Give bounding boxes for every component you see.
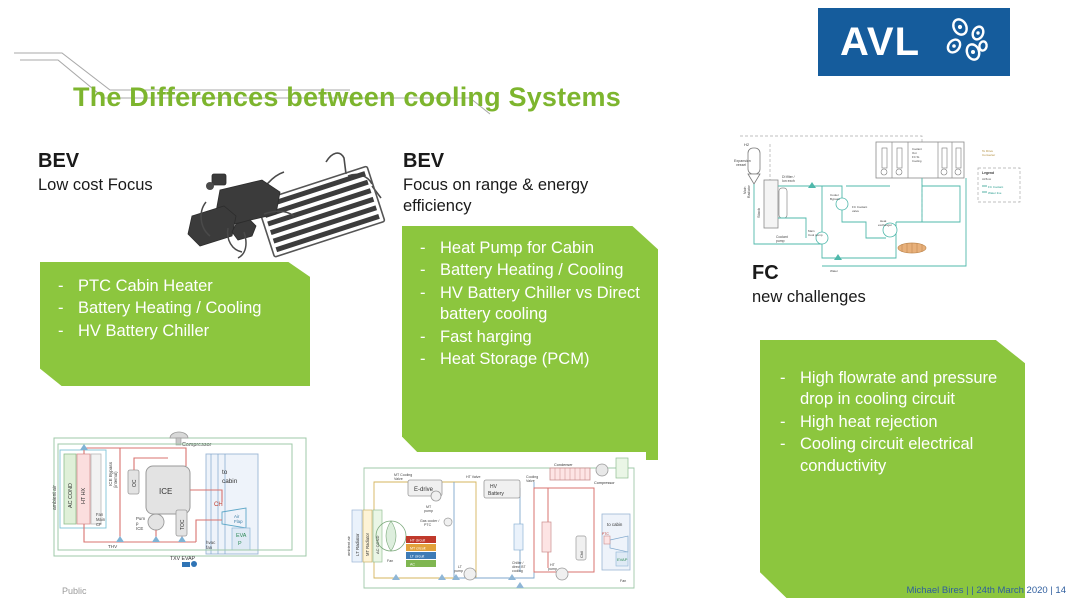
list-item: -Heat Pump for Cabin [410, 238, 650, 259]
bullet-marker: - [58, 298, 64, 319]
heading-text: FC [752, 262, 962, 285]
list-item-text: HV Battery Chiller vs Direct battery coo… [440, 284, 640, 323]
svg-text:ambient air: ambient air [52, 485, 58, 510]
bullet-marker: - [420, 238, 426, 259]
svg-text:Fan: Fan [387, 559, 393, 563]
svg-text:AC COND: AC COND [68, 483, 74, 508]
callout-box-bev-low-cost: -PTC Cabin Heater -Battery Heating / Coo… [40, 262, 310, 386]
svg-text:ambient air: ambient air [346, 536, 351, 556]
svg-text:Radiator: Radiator [747, 184, 751, 198]
svg-text:TXV EVAP: TXV EVAP [170, 556, 196, 562]
svg-text:AC COND: AC COND [375, 535, 380, 554]
svg-text:pump: pump [548, 567, 557, 571]
bev-thermal-circuit-schematic: ambient air LT Radiator MT Radiator AC C… [344, 452, 646, 598]
list-item-text: Fast harging [440, 328, 532, 346]
svg-text:fan: fan [206, 545, 213, 550]
svg-text:Fan: Fan [620, 579, 626, 583]
list-item: -PTC Cabin Heater [48, 276, 300, 297]
svg-text:pump: pump [776, 239, 785, 243]
list-item: -Battery Heating / Cooling [410, 260, 650, 281]
svg-text:Compressor: Compressor [182, 442, 212, 448]
list-item-text: HV Battery Chiller [78, 322, 209, 340]
svg-text:AC: AC [410, 563, 415, 567]
column-heading-bev-range: BEV Focus on range & energy efficiency [403, 150, 623, 216]
column-heading-fc: FC new challenges [752, 262, 962, 308]
bullet-list: -PTC Cabin Heater -Battery Heating / Coo… [48, 276, 300, 342]
avl-logo: AVL [818, 8, 1010, 76]
svg-text:Ion exch: Ion exch [782, 179, 795, 183]
svg-text:E-drive: E-drive [414, 487, 434, 493]
svg-text:H2: H2 [744, 142, 750, 147]
svg-text:Water line: Water line [988, 191, 1002, 195]
svg-text:ICE: ICE [136, 526, 143, 531]
svg-text:Flap: Flap [234, 519, 243, 524]
svg-text:Airflow: Airflow [982, 177, 992, 181]
svg-text:pump: pump [454, 569, 463, 573]
svg-text:vessel: vessel [736, 163, 746, 167]
callout-box-fc: -High flowrate and pressure drop in cool… [760, 340, 1025, 598]
svg-text:cooling: cooling [512, 569, 523, 573]
bullet-marker: - [420, 327, 426, 348]
svg-text:LT Radiator: LT Radiator [355, 533, 360, 556]
svg-text:Cooling: Cooling [912, 159, 922, 163]
svg-text:cabin: cabin [222, 478, 238, 485]
list-item: -Heat Storage (PCM) [410, 349, 650, 370]
classification-label: Public [62, 586, 87, 596]
svg-text:TOC: TOC [180, 519, 186, 530]
svg-text:P: P [238, 541, 242, 547]
bullet-marker: - [58, 276, 64, 297]
bullet-list: -Heat Pump for Cabin -Battery Heating / … [410, 238, 650, 371]
callout-box-bev-range: -Heat Pump for Cabin -Battery Heating / … [402, 226, 658, 460]
bullet-marker: - [58, 321, 64, 342]
svg-text:HV: HV [490, 484, 498, 490]
svg-text:EVA: EVA [236, 533, 247, 539]
list-item-text: Battery Heating / Cooling [440, 261, 623, 279]
svg-text:Battery: Battery [488, 491, 504, 497]
svg-text:Converter: Converter [982, 153, 995, 157]
list-item: -High heat rejection [770, 412, 1015, 433]
svg-text:HT HX: HT HX [81, 488, 87, 504]
svg-text:Valve: Valve [526, 479, 535, 483]
bullet-marker: - [780, 412, 786, 433]
svg-text:Cool pump: Cool pump [808, 233, 823, 237]
list-item-text: Heat Pump for Cabin [440, 239, 594, 257]
list-item: -High flowrate and pressure drop in cool… [770, 368, 1015, 411]
svg-text:Bypass: Bypass [830, 197, 840, 201]
bullet-marker: - [780, 368, 786, 389]
svg-text:pump: pump [424, 509, 433, 513]
svg-text:Stack: Stack [756, 208, 761, 218]
svg-text:CF: CF [96, 522, 102, 527]
svg-text:THV: THV [108, 544, 118, 549]
svg-text:valve: valve [852, 209, 859, 213]
svg-text:OC: OC [132, 479, 138, 487]
svg-text:CH: CH [214, 502, 223, 508]
list-item-text: High heat rejection [800, 413, 938, 431]
footer-meta: Michael Bires | | 24th March 2020 | 14 [907, 585, 1066, 596]
svg-text:Condenser: Condenser [554, 463, 573, 467]
list-item: -HV Battery Chiller vs Direct battery co… [410, 283, 650, 326]
list-item: -Fast harging [410, 327, 650, 348]
list-item: -Cooling circuit electrical conductivity [770, 434, 1015, 477]
svg-text:HT Valve: HT Valve [466, 475, 480, 479]
list-item: -Battery Heating / Cooling [48, 298, 300, 319]
svg-text:EVAP: EVAP [617, 557, 628, 562]
avl-wordmark: AVL [840, 22, 920, 62]
bullet-marker: - [780, 434, 786, 455]
svg-text:MT Radiator: MT Radiator [365, 532, 370, 556]
svg-text:(internal): (internal) [113, 471, 118, 488]
svg-text:HT circuit: HT circuit [410, 539, 425, 543]
svg-text:LT circuit: LT circuit [410, 555, 424, 559]
svg-text:FC Coolant: FC Coolant [988, 185, 1003, 189]
list-item-text: High flowrate and pressure drop in cooli… [800, 369, 997, 408]
avl-pinwheel-icon [940, 16, 992, 68]
list-item-text: PTC Cabin Heater [78, 277, 213, 295]
bullet-list: -High flowrate and pressure drop in cool… [770, 368, 1015, 477]
subheading-text: new challenges [752, 287, 962, 308]
svg-text:Compressor: Compressor [594, 481, 615, 485]
svg-text:exchanger: exchanger [878, 223, 892, 227]
svg-text:Legend: Legend [982, 171, 994, 175]
list-item-text: Cooling circuit electrical conductivity [800, 435, 973, 474]
svg-text:Valve: Valve [394, 477, 403, 481]
slide-canvas: AVL The Differences between cooling Syst… [0, 0, 1080, 608]
hvac-ice-schematic: ambient air AC COND HT HX Fan Main CF IC… [46, 424, 314, 576]
svg-text:PTC: PTC [602, 532, 609, 536]
svg-text:PTC: PTC [424, 523, 432, 527]
svg-text:Chil: Chil [579, 551, 584, 558]
bullet-marker: - [420, 349, 426, 370]
svg-text:MT circuit: MT circuit [410, 547, 426, 551]
heading-text: BEV [403, 150, 623, 173]
page-title: The Differences between cooling Systems [73, 82, 621, 113]
list-item-text: Heat Storage (PCM) [440, 350, 589, 368]
list-item-text: Battery Heating / Cooling [78, 299, 261, 317]
svg-text:ICE: ICE [159, 487, 172, 496]
bullet-marker: - [420, 283, 426, 304]
bev-thermal-assembly-photo [176, 140, 398, 265]
fuel-cell-cooling-circuit-schematic: H2 Expansion vessel Stack DI filter / Io… [726, 126, 1022, 278]
svg-text:to: to [222, 469, 228, 476]
bullet-marker: - [420, 260, 426, 281]
svg-text:to cabin: to cabin [607, 522, 623, 527]
list-item: -HV Battery Chiller [48, 321, 300, 342]
subheading-text: Focus on range & energy efficiency [403, 175, 623, 216]
